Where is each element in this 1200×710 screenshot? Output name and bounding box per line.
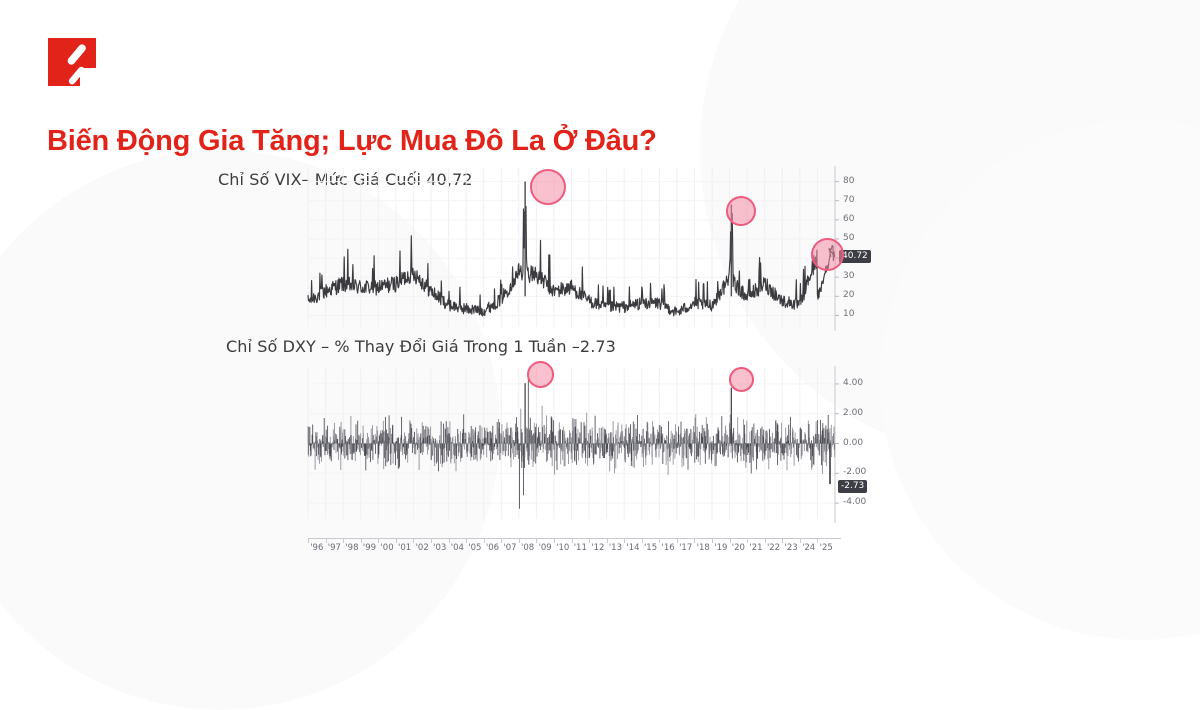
x-tick-mark (501, 538, 502, 543)
x-tick-mark (326, 538, 327, 543)
x-tick-mark (484, 538, 485, 543)
x-tick-16: '16 (662, 543, 675, 553)
x-tick-25: '25 (820, 543, 833, 553)
x-axis-line (308, 538, 841, 539)
x-tick-23: '23 (785, 543, 798, 553)
dxy-y-tick: -4.00 (843, 497, 866, 507)
dxy-y-tick: 2.00 (843, 408, 863, 418)
x-tick-mark (343, 538, 344, 543)
x-tick-96: '96 (310, 543, 323, 553)
x-tick-mark (677, 538, 678, 543)
x-tick-mark (712, 538, 713, 543)
x-tick-mark (536, 538, 537, 543)
x-tick-mark (607, 538, 608, 543)
dxy-highlight-2020 (729, 367, 754, 392)
x-tick-07: '07 (503, 543, 516, 553)
vix-y-tick: 50 (843, 233, 854, 243)
vix-y-tick: 60 (843, 214, 854, 224)
x-tick-05: '05 (468, 543, 481, 553)
x-tick-mark (361, 538, 362, 543)
x-tick-mark (308, 538, 309, 543)
x-tick-mark (624, 538, 625, 543)
x-tick-13: '13 (609, 543, 622, 553)
x-tick-mark (431, 538, 432, 543)
chart-stage: Chỉ Số VIX– Mức Giá Cuối 40,72 Chỉ Số DX… (0, 0, 1200, 628)
vix-y-tick: 70 (843, 195, 854, 205)
x-tick-12: '12 (591, 543, 604, 553)
x-tick-mark (466, 538, 467, 543)
x-tick-mark (730, 538, 731, 543)
x-tick-mark (642, 538, 643, 543)
x-tick-19: '19 (714, 543, 727, 553)
x-tick-98: '98 (345, 543, 358, 553)
vix-y-tick: 20 (843, 290, 854, 300)
x-tick-04: '04 (451, 543, 464, 553)
x-tick-mark (817, 538, 818, 543)
vix-highlight-latest (811, 238, 844, 271)
x-tick-22: '22 (767, 543, 780, 553)
x-tick-01: '01 (398, 543, 411, 553)
x-tick-09: '09 (539, 543, 552, 553)
x-tick-03: '03 (433, 543, 446, 553)
x-tick-99: '99 (363, 543, 376, 553)
x-tick-mark (659, 538, 660, 543)
x-tick-17: '17 (679, 543, 692, 553)
x-tick-mark (449, 538, 450, 543)
x-tick-mark (519, 538, 520, 543)
x-tick-10: '10 (556, 543, 569, 553)
x-tick-mark (782, 538, 783, 543)
dxy-y-tick: 0.00 (843, 438, 863, 448)
x-tick-mark (396, 538, 397, 543)
x-tick-mark (554, 538, 555, 543)
vix-y-tick: 80 (843, 176, 854, 186)
dxy-highlight-2008 (527, 361, 554, 388)
x-tick-02: '02 (416, 543, 429, 553)
x-tick-15: '15 (644, 543, 657, 553)
page-title: Biến Động Gia Tăng; Lực Mua Đô La Ở Đâu? (47, 125, 657, 158)
x-tick-21: '21 (749, 543, 762, 553)
dxy-last-value-badge: -2.73 (838, 480, 867, 493)
x-tick-00: '00 (380, 543, 393, 553)
vix-highlight-2020 (726, 196, 756, 226)
x-tick-24: '24 (802, 543, 815, 553)
x-tick-mark (747, 538, 748, 543)
x-tick-20: '20 (732, 543, 745, 553)
logo-icon (46, 36, 98, 88)
x-tick-mark (378, 538, 379, 543)
x-tick-mark (694, 538, 695, 543)
vix-y-tick: 10 (843, 309, 854, 319)
x-tick-08: '08 (521, 543, 534, 553)
x-tick-mark (765, 538, 766, 543)
x-tick-mark (800, 538, 801, 543)
brand-logo[interactable] (46, 36, 98, 88)
x-tick-11: '11 (574, 543, 587, 553)
x-tick-mark (572, 538, 573, 543)
x-tick-18: '18 (697, 543, 710, 553)
x-tick-06: '06 (486, 543, 499, 553)
dxy-y-tick: 4.00 (843, 378, 863, 388)
vix-y-tick: 30 (843, 271, 854, 281)
x-tick-mark (413, 538, 414, 543)
dxy-y-tick: -2.00 (843, 467, 866, 477)
x-tick-mark (589, 538, 590, 543)
x-tick-14: '14 (626, 543, 639, 553)
charts-svg (0, 0, 1200, 628)
x-tick-97: '97 (328, 543, 341, 553)
vix-highlight-2008 (530, 169, 566, 205)
